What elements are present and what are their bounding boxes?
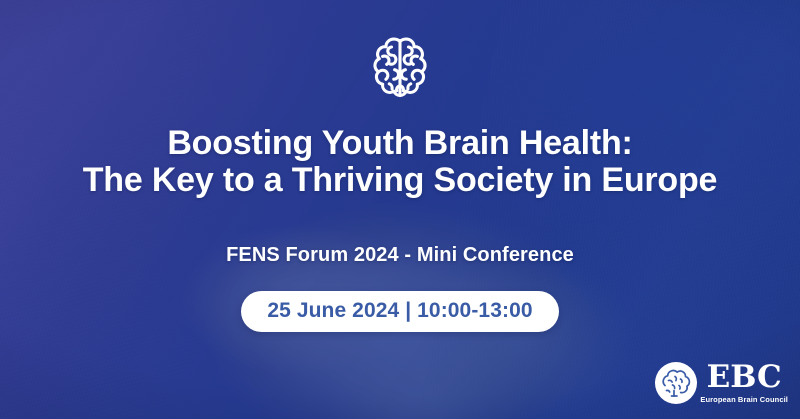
date-time-badge: 25 June 2024 | 10:00-13:00 <box>241 291 558 332</box>
banner-content: Boosting Youth Brain Health: The Key to … <box>0 0 800 419</box>
title-line-1: Boosting Youth Brain Health: <box>83 125 718 162</box>
brain-icon <box>369 33 431 103</box>
title-line-2: The Key to a Thriving Society in Europe <box>83 162 718 199</box>
page-title: Boosting Youth Brain Health: The Key to … <box>83 125 718 199</box>
event-banner: Boosting Youth Brain Health: The Key to … <box>0 0 800 419</box>
ebc-logo[interactable]: EBC European Brain Council <box>654 361 788 405</box>
brain-circle-icon <box>654 361 698 405</box>
event-subtitle: FENS Forum 2024 - Mini Conference <box>226 244 574 267</box>
ebc-text-block: EBC European Brain Council <box>700 362 788 404</box>
ebc-tagline: European Brain Council <box>700 395 788 404</box>
ebc-wordmark: EBC <box>707 362 782 393</box>
